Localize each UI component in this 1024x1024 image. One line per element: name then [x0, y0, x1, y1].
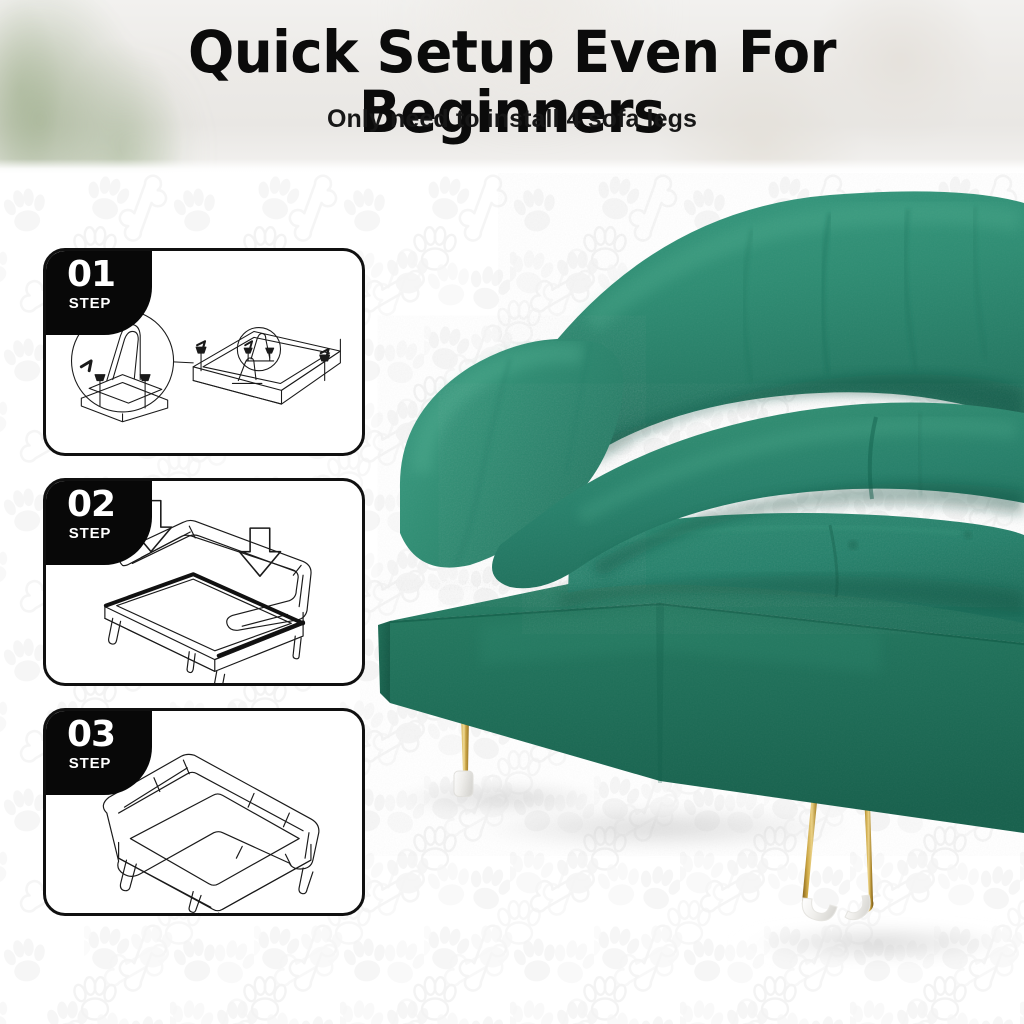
step-number: 02: [44, 486, 138, 524]
content-area: 01 STEP: [0, 173, 1024, 1024]
product-photo: [360, 173, 1024, 1024]
page-subtitle: Only need to install 4 sofa legs: [0, 104, 1024, 134]
step-card-03[interactable]: 03 STEP: [43, 708, 365, 916]
step-card-02[interactable]: 02 STEP: [43, 478, 365, 686]
step-card-list: 01 STEP: [43, 248, 365, 938]
step-label: STEP: [44, 526, 136, 542]
header-banner: Quick Setup Even For Beginners Only need…: [0, 0, 1024, 173]
step-badge-01: 01 STEP: [44, 249, 152, 335]
step-number: 03: [44, 716, 138, 754]
step-badge-03: 03 STEP: [44, 709, 152, 795]
step-label: STEP: [44, 756, 136, 772]
step-badge-02: 02 STEP: [44, 479, 152, 565]
product-infographic: Quick Setup Even For Beginners Only need…: [0, 0, 1024, 1024]
step-label: STEP: [44, 296, 136, 312]
step-card-01[interactable]: 01 STEP: [43, 248, 365, 456]
step-number: 01: [44, 256, 138, 294]
